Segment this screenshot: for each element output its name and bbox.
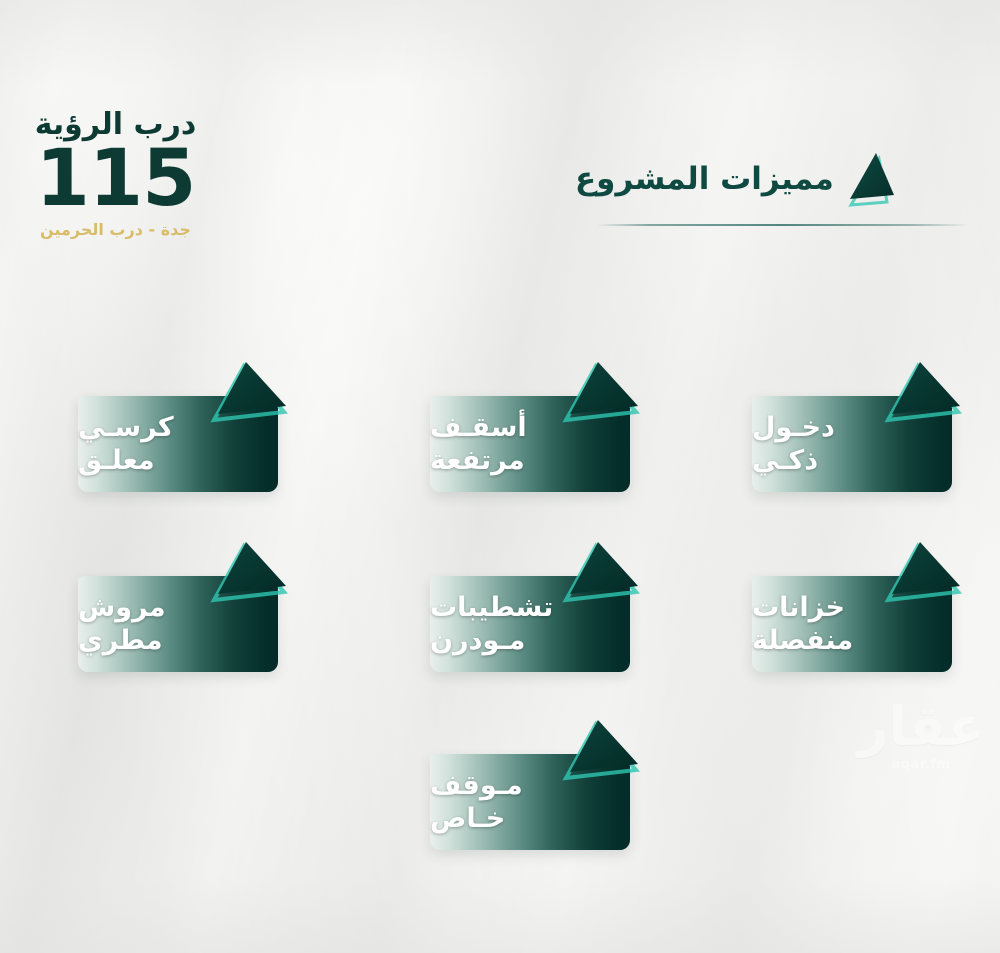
card-label: دخـول ذكـي bbox=[752, 396, 952, 492]
feature-card-private-parking[interactable]: مـوقف خـاص bbox=[430, 718, 630, 814]
card-line-2: خـاص bbox=[430, 802, 505, 835]
card-label: خزانات منفصلة bbox=[752, 576, 952, 672]
card-label: تشطيبات مـودرن bbox=[430, 576, 630, 672]
triangle-marker-icon bbox=[848, 151, 902, 207]
feature-card-rain-shower[interactable]: مروش مطري bbox=[78, 540, 278, 636]
card-line-2: مطري bbox=[78, 624, 163, 657]
card-line-1: أسقـف bbox=[430, 411, 527, 444]
logo-number: 115 bbox=[8, 142, 223, 216]
card-line-2: معلـق bbox=[78, 444, 155, 477]
brand-watermark: عقار aqar.fm bbox=[846, 700, 996, 772]
section-title: مميزات المشروع bbox=[575, 164, 834, 195]
feature-card-smart-entry[interactable]: دخـول ذكـي bbox=[752, 360, 952, 456]
infographic-canvas: درب الرؤية 115 جدة - درب الحرمين مميزات … bbox=[0, 0, 1000, 953]
card-line-1: دخـول bbox=[752, 411, 835, 444]
logo-subtitle: جدة - درب الحرمين bbox=[8, 222, 223, 238]
feature-card-high-ceilings[interactable]: أسقـف مرتفعة bbox=[430, 360, 630, 456]
section-header-row: مميزات المشروع bbox=[575, 148, 975, 210]
feature-card-separate-tanks[interactable]: خزانات منفصلة bbox=[752, 540, 952, 636]
section-header: مميزات المشروع bbox=[575, 148, 975, 228]
header-divider bbox=[597, 224, 969, 226]
card-line-1: مروش bbox=[78, 591, 166, 624]
feature-card-hanging-chair[interactable]: كرسـي معلـق bbox=[78, 360, 278, 456]
card-line-2: منفصلة bbox=[752, 624, 853, 657]
card-line-1: خزانات bbox=[752, 591, 845, 624]
project-logo: درب الرؤية 115 جدة - درب الحرمين bbox=[8, 110, 223, 238]
card-label: مـوقف خـاص bbox=[430, 754, 630, 850]
card-line-2: مـودرن bbox=[430, 624, 525, 657]
card-line-1: مـوقف bbox=[430, 769, 523, 802]
card-line-1: كرسـي bbox=[78, 411, 174, 444]
card-line-1: تشطيبات bbox=[430, 591, 553, 624]
watermark-subtext: aqar.fm bbox=[846, 757, 996, 772]
card-line-2: مرتفعة bbox=[430, 444, 525, 477]
card-label: كرسـي معلـق bbox=[78, 396, 278, 492]
feature-card-modern-finishes[interactable]: تشطيبات مـودرن bbox=[430, 540, 630, 636]
card-line-2: ذكـي bbox=[752, 444, 818, 477]
card-label: مروش مطري bbox=[78, 576, 278, 672]
card-label: أسقـف مرتفعة bbox=[430, 396, 630, 492]
watermark-text: عقار bbox=[846, 700, 996, 754]
